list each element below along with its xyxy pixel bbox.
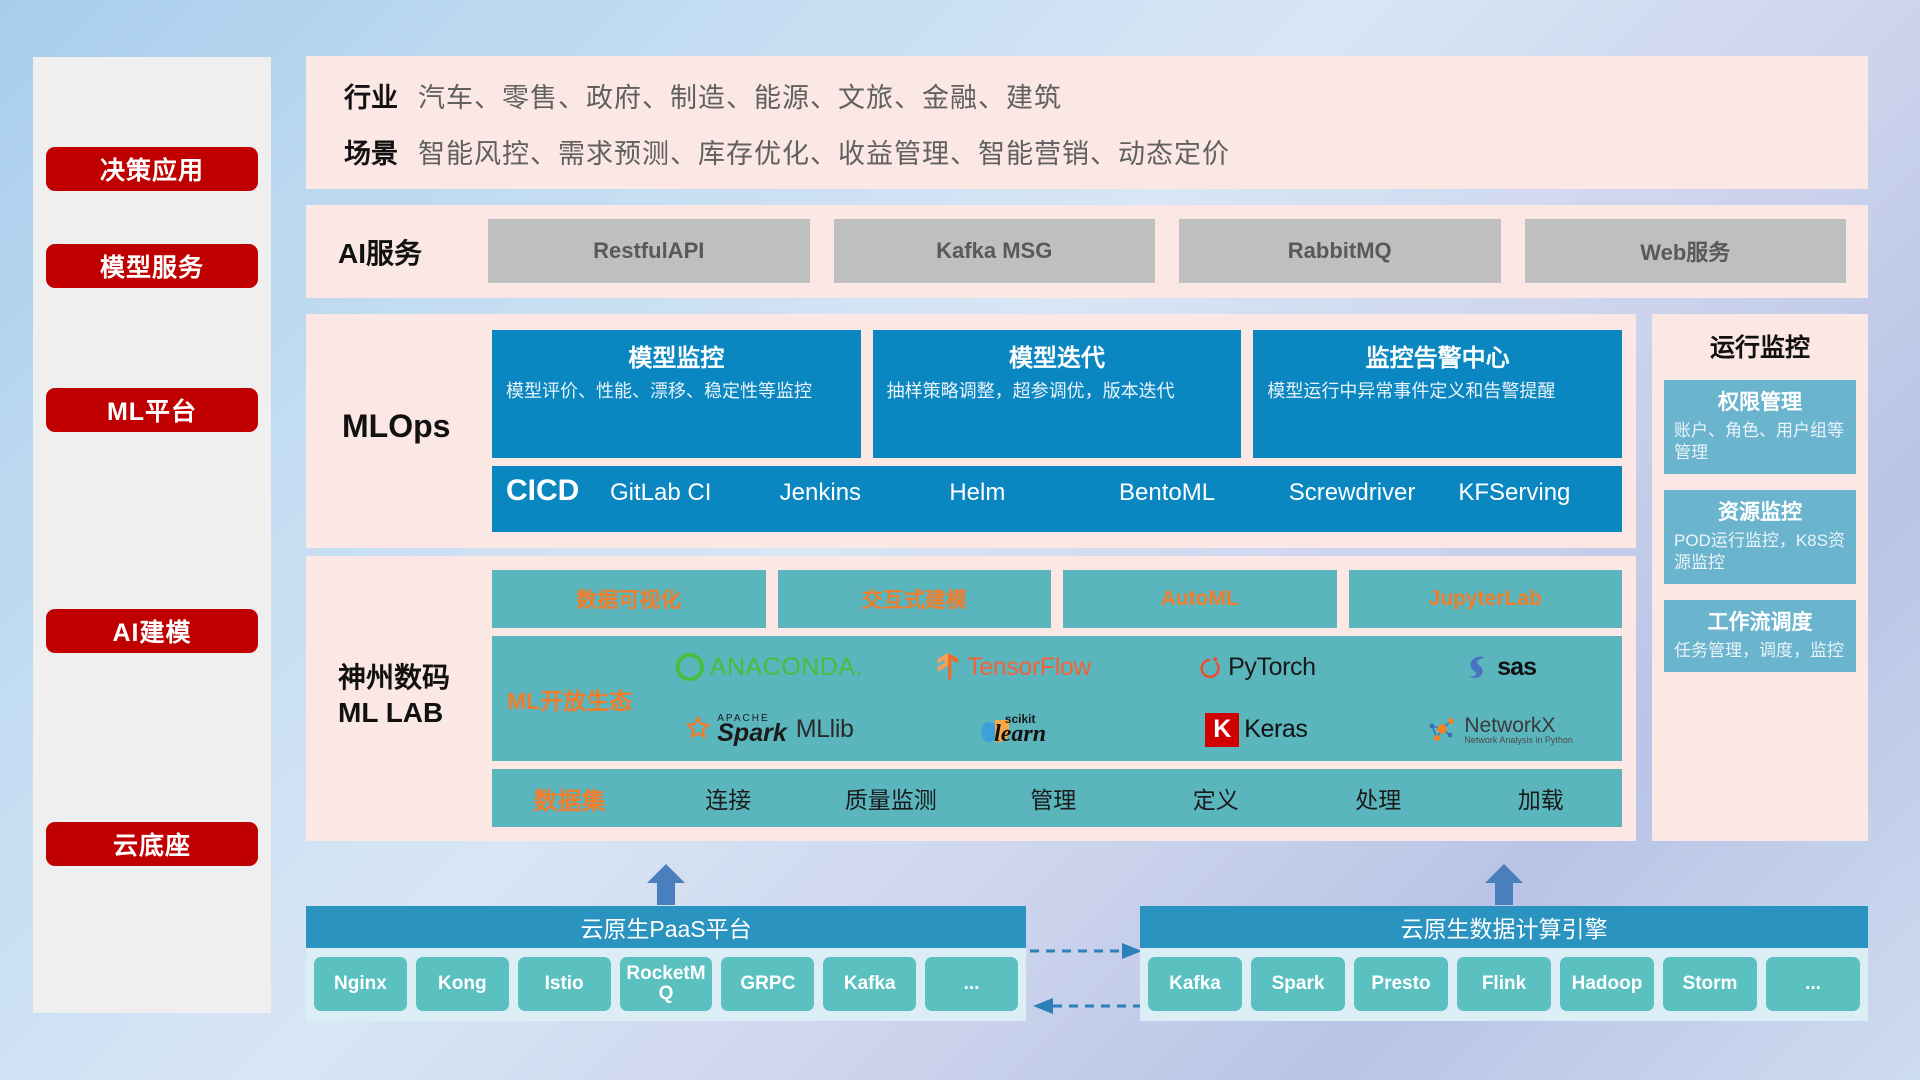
rail-item-decision-app[interactable]: 决策应用 bbox=[46, 147, 258, 191]
pytorch-wordmark: PyTorch bbox=[1228, 653, 1316, 682]
tensorflow-logo: TensorFlow bbox=[934, 652, 1091, 682]
engine-chip-more[interactable]: ... bbox=[1766, 957, 1860, 1011]
anaconda-logo: ANACONDA. bbox=[675, 652, 863, 682]
sas-mark-icon bbox=[1464, 652, 1492, 682]
mlops-card-desc: 模型评价、性能、漂移、稳定性等监控 bbox=[506, 379, 847, 403]
monitoring-card-title: 权限管理 bbox=[1674, 386, 1846, 416]
ml-ecosystem-box: ML开放生态 ANACONDA. TensorFlow bbox=[492, 636, 1622, 761]
paas-chip-rocketmq[interactable]: RocketMQ bbox=[620, 957, 713, 1011]
pytorch-logo: PyTorch bbox=[1197, 652, 1316, 682]
industry-scene-panel: 行业 汽车、零售、政府、制造、能源、文旅、金融、建筑 场景 智能风控、需求预测、… bbox=[306, 56, 1868, 189]
monitoring-card-desc: 任务管理，调度，监控 bbox=[1674, 640, 1846, 662]
ai-service-chip-rabbitmq[interactable]: RabbitMQ bbox=[1179, 219, 1501, 283]
cicd-item-bentoml[interactable]: BentoML bbox=[1113, 466, 1283, 508]
engine-chip-spark[interactable]: Spark bbox=[1251, 957, 1345, 1011]
ml-lab-label-line2: ML LAB bbox=[338, 695, 450, 730]
ml-lab-chip-jupyterlab[interactable]: JupyterLab bbox=[1349, 570, 1623, 628]
monitoring-card-resource[interactable]: 资源监控 POD运行监控，K8S资源监控 bbox=[1664, 490, 1856, 584]
monitoring-card-workflow[interactable]: 工作流调度 任务管理，调度，监控 bbox=[1664, 600, 1856, 672]
engine-up-arrow-icon bbox=[1482, 862, 1526, 902]
dataset-item-load[interactable]: 加载 bbox=[1460, 781, 1623, 815]
dataset-item-define[interactable]: 定义 bbox=[1135, 781, 1298, 815]
engine-chip-flink[interactable]: Flink bbox=[1457, 957, 1551, 1011]
mlops-card-desc: 抽样策略调整，超参调优，版本迭代 bbox=[887, 379, 1228, 403]
ai-service-chip-kafka-msg[interactable]: Kafka MSG bbox=[834, 219, 1156, 283]
ai-service-chip-restfulapi[interactable]: RestfulAPI bbox=[488, 219, 810, 283]
ml-lab-chip-automl[interactable]: AutoML bbox=[1063, 570, 1337, 628]
ml-lab-chip-interactive-modeling[interactable]: 交互式建模 bbox=[778, 570, 1052, 628]
cicd-item-kfserving[interactable]: KFServing bbox=[1452, 466, 1622, 508]
dashed-arrow-left-icon bbox=[1030, 995, 1145, 1022]
keras-mark-icon: K bbox=[1205, 713, 1239, 747]
tensorflow-wordmark: TensorFlow bbox=[967, 653, 1091, 682]
mlops-card-title: 模型迭代 bbox=[887, 338, 1228, 373]
paas-up-arrow-icon bbox=[644, 862, 688, 902]
engine-chip-storm[interactable]: Storm bbox=[1663, 957, 1757, 1011]
monitoring-title: 运行监控 bbox=[1652, 314, 1868, 364]
cicd-item-jenkins[interactable]: Jenkins bbox=[774, 466, 944, 508]
engine-chip-kafka[interactable]: Kafka bbox=[1148, 957, 1242, 1011]
mlops-label: MLOps bbox=[342, 408, 450, 445]
mlops-card-title: 监控告警中心 bbox=[1267, 338, 1608, 373]
mlops-card-model-monitoring[interactable]: 模型监控 模型评价、性能、漂移、稳定性等监控 bbox=[492, 330, 861, 458]
sas-logo: sas bbox=[1464, 652, 1536, 682]
mlops-card-alert-center[interactable]: 监控告警中心 模型运行中异常事件定义和告警提醒 bbox=[1253, 330, 1622, 458]
networkx-logo: NetworkX Network Analysis in Python bbox=[1427, 715, 1573, 745]
engine-chip-presto[interactable]: Presto bbox=[1354, 957, 1448, 1011]
paas-block: 云原生PaaS平台 Nginx Kong Istio RocketMQ GRPC… bbox=[306, 906, 1026, 1021]
scikit-learn-logo: scikit learn bbox=[979, 714, 1046, 746]
ml-lab-label: 神州数码 ML LAB bbox=[338, 660, 450, 730]
paas-chip-istio[interactable]: Istio bbox=[518, 957, 611, 1011]
cicd-title: CICD bbox=[492, 466, 604, 508]
monitoring-card-desc: POD运行监控，K8S资源监控 bbox=[1674, 530, 1846, 574]
paas-chip-list: Nginx Kong Istio RocketMQ GRPC Kafka ... bbox=[306, 948, 1026, 1020]
monitoring-panel: 运行监控 权限管理 账户、角色、用户组等管理 资源监控 POD运行监控，K8S资… bbox=[1652, 314, 1868, 841]
networkx-tagline: Network Analysis in Python bbox=[1464, 736, 1573, 745]
keras-wordmark: Keras bbox=[1244, 715, 1307, 744]
monitoring-card-title: 工作流调度 bbox=[1674, 606, 1846, 636]
ai-service-panel: AI服务 RestfulAPI Kafka MSG RabbitMQ Web服务 bbox=[306, 205, 1868, 298]
paas-chip-nginx[interactable]: Nginx bbox=[314, 957, 407, 1011]
mlops-card-model-iteration[interactable]: 模型迭代 抽样策略调整，超参调优，版本迭代 bbox=[873, 330, 1242, 458]
spark-mllib-logo: APACHE Spark MLlib bbox=[684, 715, 853, 745]
paas-title: 云原生PaaS平台 bbox=[306, 906, 1026, 948]
dashed-arrow-right-icon bbox=[1030, 940, 1145, 967]
mlops-card-desc: 模型运行中异常事件定义和告警提醒 bbox=[1267, 379, 1608, 403]
spark-wordmark: Spark bbox=[717, 723, 786, 744]
data-engine-title: 云原生数据计算引擎 bbox=[1140, 906, 1868, 948]
dataset-bar: 数据集 连接 质量监测 管理 定义 处理 加载 bbox=[492, 769, 1622, 827]
keras-logo: K Keras bbox=[1205, 713, 1307, 747]
rail-item-cloud-base[interactable]: 云底座 bbox=[46, 822, 258, 866]
monitoring-card-title: 资源监控 bbox=[1674, 496, 1846, 526]
ml-lab-chip-list: 数据可视化 交互式建模 AutoML JupyterLab bbox=[492, 570, 1622, 628]
pytorch-flame-icon bbox=[1197, 652, 1223, 682]
ml-lab-chip-data-visualization[interactable]: 数据可视化 bbox=[492, 570, 766, 628]
architecture-diagram: 决策应用 模型服务 ML平台 AI建模 云底座 行业 汽车、零售、政府、制造、能… bbox=[0, 0, 1920, 1080]
paas-chip-grpc[interactable]: GRPC bbox=[721, 957, 814, 1011]
ml-ecosystem-logo-grid: ANACONDA. TensorFlow PyTorch bbox=[647, 636, 1622, 761]
networkx-wordmark: NetworkX bbox=[1464, 715, 1573, 736]
anaconda-mark-icon bbox=[675, 652, 705, 682]
paas-chip-kafka[interactable]: Kafka bbox=[823, 957, 916, 1011]
scene-value: 智能风控、需求预测、库存优化、收益管理、智能营销、动态定价 bbox=[418, 132, 1230, 171]
monitoring-card-permission[interactable]: 权限管理 账户、角色、用户组等管理 bbox=[1664, 380, 1856, 474]
rail-item-model-service[interactable]: 模型服务 bbox=[46, 244, 258, 288]
dataset-item-process[interactable]: 处理 bbox=[1297, 781, 1460, 815]
data-engine-block: 云原生数据计算引擎 Kafka Spark Presto Flink Hadoo… bbox=[1140, 906, 1868, 1021]
industry-value: 汽车、零售、政府、制造、能源、文旅、金融、建筑 bbox=[418, 76, 1062, 115]
ai-service-chip-web[interactable]: Web服务 bbox=[1525, 219, 1847, 283]
mlops-card-list: 模型监控 模型评价、性能、漂移、稳定性等监控 模型迭代 抽样策略调整，超参调优，… bbox=[492, 330, 1622, 458]
industry-key: 行业 bbox=[306, 76, 418, 115]
ai-service-chip-list: RestfulAPI Kafka MSG RabbitMQ Web服务 bbox=[488, 219, 1846, 283]
dataset-item-manage[interactable]: 管理 bbox=[972, 781, 1135, 815]
rail-item-ml-platform[interactable]: ML平台 bbox=[46, 388, 258, 432]
rail-item-ai-modeling[interactable]: AI建模 bbox=[46, 609, 258, 653]
layer-rail: 决策应用 模型服务 ML平台 AI建模 云底座 bbox=[33, 57, 271, 1013]
data-engine-chip-list: Kafka Spark Presto Flink Hadoop Storm ..… bbox=[1140, 948, 1868, 1020]
anaconda-wordmark: ANACONDA. bbox=[710, 653, 863, 682]
cicd-bar: CICD GitLab CI Jenkins Helm BentoML Scre… bbox=[492, 466, 1622, 532]
mlops-card-title: 模型监控 bbox=[506, 338, 847, 373]
spark-star-icon bbox=[684, 715, 712, 745]
dataset-item-quality-monitor[interactable]: 质量监测 bbox=[810, 781, 973, 815]
ml-ecosystem-title: ML开放生态 bbox=[492, 682, 647, 716]
scene-key: 场景 bbox=[306, 132, 418, 171]
learn-text: learn bbox=[994, 724, 1046, 746]
cicd-item-gitlab-ci[interactable]: GitLab CI bbox=[604, 466, 774, 508]
sas-wordmark: sas bbox=[1497, 653, 1536, 682]
ml-lab-panel: 神州数码 ML LAB 数据可视化 交互式建模 AutoML JupyterLa… bbox=[306, 556, 1636, 841]
cicd-item-screwdriver[interactable]: Screwdriver bbox=[1283, 466, 1453, 508]
ml-lab-label-line1: 神州数码 bbox=[338, 660, 450, 695]
ai-service-label: AI服务 bbox=[338, 232, 422, 272]
paas-chip-kong[interactable]: Kong bbox=[416, 957, 509, 1011]
monitoring-card-desc: 账户、角色、用户组等管理 bbox=[1674, 420, 1846, 464]
dataset-title: 数据集 bbox=[492, 781, 647, 816]
dataset-item-connect[interactable]: 连接 bbox=[647, 781, 810, 815]
mllib-wordmark: MLlib bbox=[796, 715, 854, 744]
engine-chip-hadoop[interactable]: Hadoop bbox=[1560, 957, 1654, 1011]
tensorflow-mark-icon bbox=[934, 652, 962, 682]
cicd-item-helm[interactable]: Helm bbox=[943, 466, 1113, 508]
networkx-graph-icon bbox=[1427, 715, 1459, 745]
paas-chip-more[interactable]: ... bbox=[925, 957, 1018, 1011]
mlops-panel: MLOps 模型监控 模型评价、性能、漂移、稳定性等监控 模型迭代 抽样策略调整… bbox=[306, 314, 1636, 548]
